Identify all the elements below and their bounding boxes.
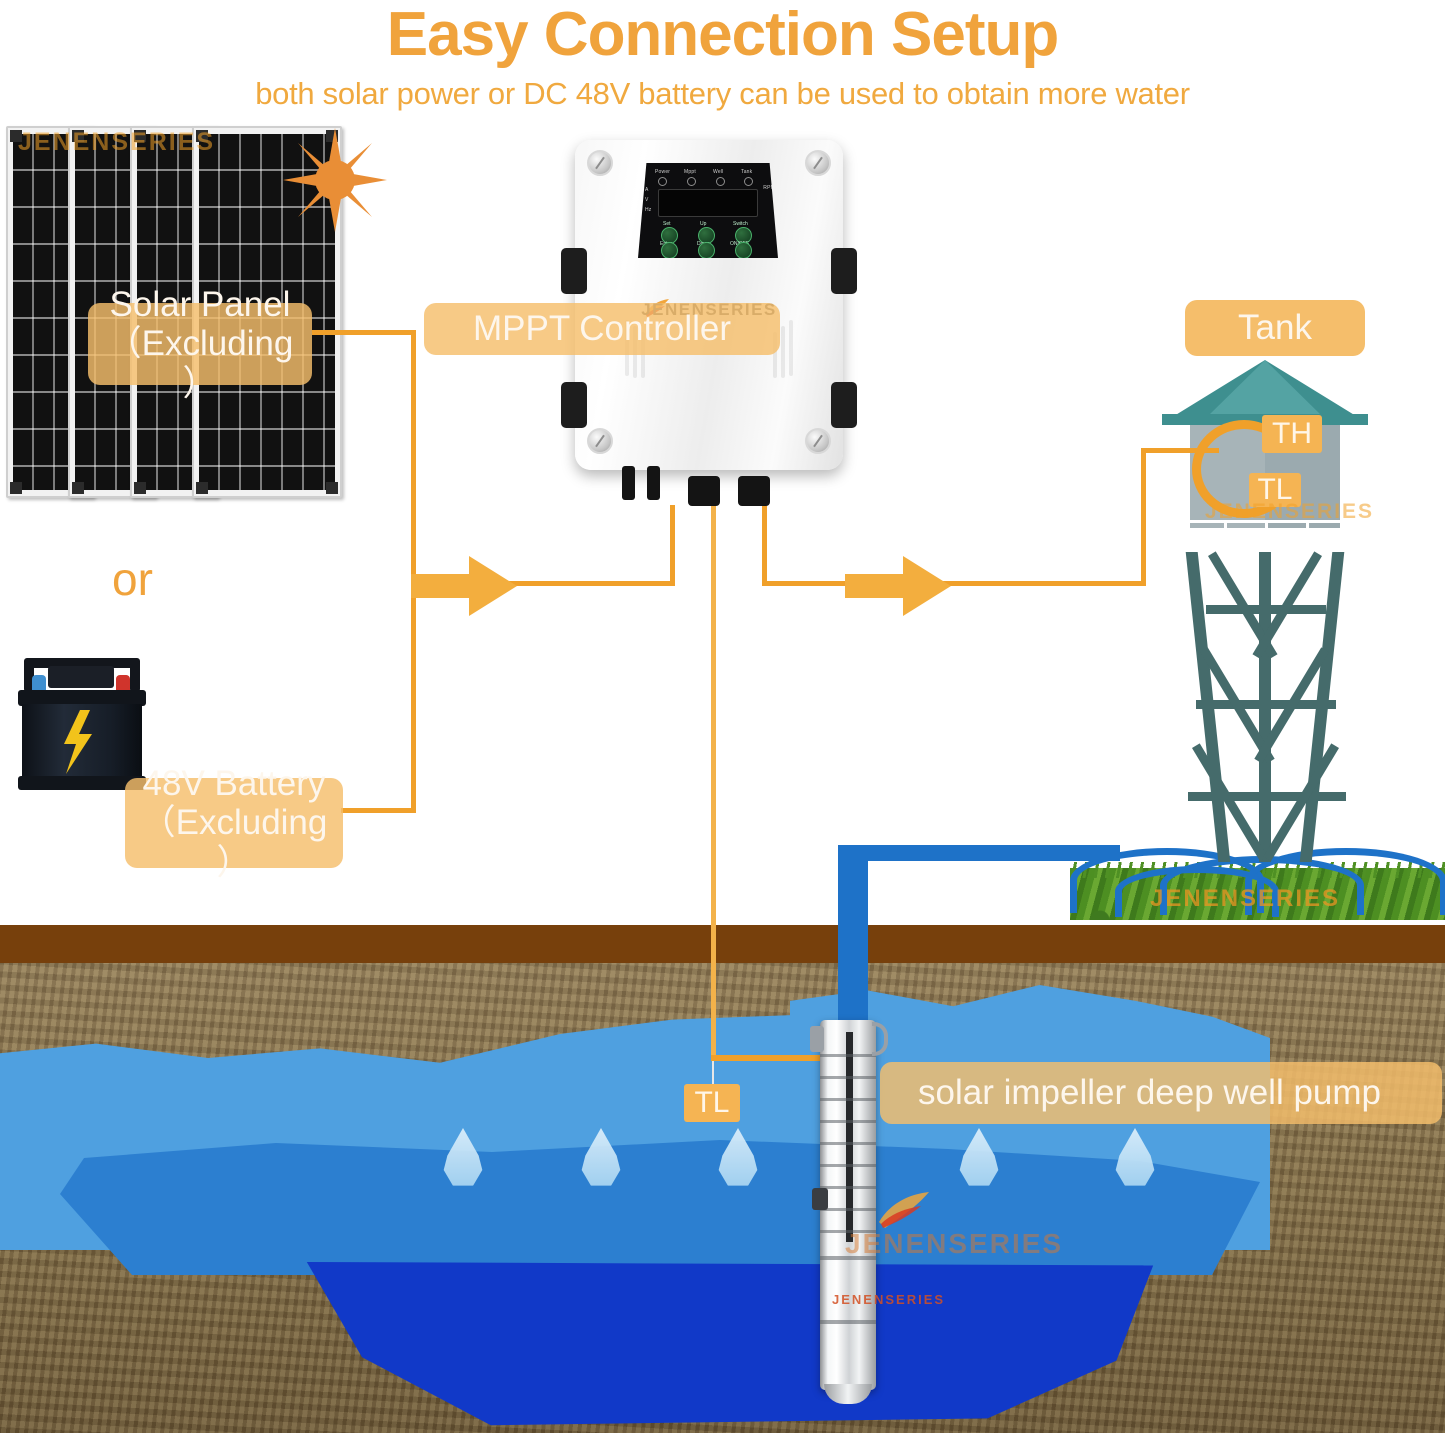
tank-label: Tank — [1185, 300, 1365, 356]
battery-label: 48V Battery （Excluding ） — [125, 778, 343, 868]
enter-button[interactable] — [661, 242, 678, 259]
screw-top-right — [805, 150, 831, 176]
wire-arrow-to-tower — [938, 581, 1146, 586]
lcd-display — [658, 189, 758, 217]
led-label-mppt: Mppt — [684, 169, 696, 175]
screw-bottom-left — [587, 428, 613, 454]
wire-bus-vertical — [411, 330, 416, 580]
screw-top-left — [587, 150, 613, 176]
mppt-controller-label: MPPT Controller — [424, 303, 780, 355]
down-button[interactable] — [698, 242, 715, 259]
button-label-switch: Switch — [733, 221, 748, 227]
wire-up-to-mc4 — [670, 505, 675, 586]
wire-arrow-to-controller — [500, 581, 675, 586]
mount-ear-left-top — [561, 248, 587, 294]
wire-tower-riser — [1141, 448, 1146, 586]
led-label-tank: Tank — [741, 169, 752, 175]
mc4-connector-positive — [622, 466, 635, 500]
led-label-power: Power — [655, 169, 670, 175]
battery-label-line1: 48V Battery — [143, 764, 326, 803]
solar-panel-label: Solar Panel （Excluding ） — [88, 303, 312, 385]
control-faceplate: Power Mppt Well Tank A V Hz RPM Set Up S… — [638, 163, 778, 258]
battery-label-line2: （Excluding ） — [139, 803, 329, 881]
sensor-th-tag: TH — [1262, 415, 1322, 453]
solar-panel-label-line1: Solar Panel — [110, 285, 291, 324]
mount-ear-right-top — [831, 248, 857, 294]
cable-gland-sensor — [738, 476, 770, 506]
discharge-pipe-riser — [838, 845, 868, 1025]
wire-pump-power — [711, 505, 716, 1060]
or-separator: or — [112, 552, 153, 606]
side-led-a: A — [645, 187, 649, 193]
sun-icon — [283, 128, 387, 232]
flame-logo-well-icon — [875, 1190, 933, 1230]
side-led-hz: Hz — [645, 207, 652, 213]
topsoil-layer — [0, 925, 1445, 963]
arrow-to-controller — [411, 556, 521, 627]
side-led-v: V — [645, 197, 649, 203]
mc4-connector-negative — [647, 466, 660, 500]
cable-gland-pump — [688, 476, 720, 506]
wire-sensor-drop — [762, 505, 767, 581]
wire-solar-to-bus — [312, 330, 416, 335]
mount-ear-right-bottom — [831, 382, 857, 428]
sensor-tl-well-tag: TL — [684, 1084, 740, 1122]
page-title: Easy Connection Setup — [0, 2, 1445, 67]
screw-bottom-right — [805, 428, 831, 454]
page-subtitle: both solar power or DC 48V battery can b… — [0, 76, 1445, 112]
wire-battery-to-bus — [341, 808, 416, 813]
sensor-tl-tank-tag: TL — [1249, 473, 1301, 507]
discharge-pipe-horizontal — [838, 845, 1120, 861]
submersible-pump — [820, 1020, 876, 1390]
wire-sensor-to-arrow — [762, 581, 850, 586]
pump-label: solar impeller deep well pump — [880, 1062, 1442, 1124]
solar-panel-label-line2: （Excluding ） — [102, 324, 298, 402]
led-label-well: Well — [713, 169, 723, 175]
mount-ear-left-bottom — [561, 382, 587, 428]
connection-diagram: Easy Connection Setup both solar power o… — [0, 0, 1445, 1433]
onoff-button[interactable] — [735, 242, 752, 259]
arrow-to-tank — [845, 556, 955, 627]
